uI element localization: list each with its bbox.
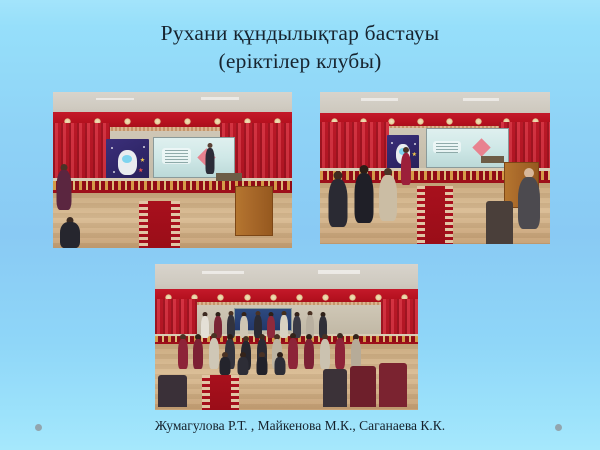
wooden-podium [235, 186, 273, 236]
star-dot [113, 171, 115, 173]
photo-content [155, 264, 418, 410]
carpet-border [202, 375, 210, 410]
group-member-front [255, 352, 268, 375]
title-line-1: Рухани құндылықтар бастауы [0, 20, 600, 48]
photo-content [320, 92, 550, 244]
star-dot [143, 146, 145, 148]
group-member-front [218, 352, 231, 375]
valance-motif [123, 117, 133, 127]
audience-figure [513, 168, 545, 241]
carpet-runner [202, 375, 239, 410]
person-body [56, 170, 71, 210]
person-body [205, 148, 214, 174]
carpet-border [231, 375, 239, 410]
valance-motif [242, 293, 252, 303]
group-member-front [237, 352, 250, 375]
photo-audience-and-presenter [320, 92, 550, 244]
carpet-border [171, 201, 180, 248]
star-icon [140, 157, 145, 162]
audience-figure [325, 171, 353, 238]
audience-figure [53, 164, 75, 223]
valance-motif [295, 293, 305, 303]
carpet-border [139, 201, 148, 248]
authors-caption: Жумагулова Р.Т. , Майкенова М.К., Сагана… [0, 418, 600, 434]
projection-screen [153, 137, 234, 178]
group-member [239, 312, 250, 338]
group-member [192, 334, 205, 372]
group-member [287, 333, 300, 372]
photo-group-photo [155, 264, 418, 410]
audience-figure [375, 168, 400, 235]
valance-motif [153, 117, 163, 127]
star-icon [138, 168, 143, 173]
heart-graphic [473, 138, 491, 156]
star-dot [414, 143, 416, 145]
auditorium-chair [158, 375, 187, 407]
page-title: Рухани құндылықтар бастауы (еріктілер кл… [0, 20, 600, 75]
person-body [379, 175, 397, 221]
av-cart [216, 173, 242, 181]
person-body [320, 339, 330, 369]
person-body [193, 339, 203, 369]
auditorium-chair [379, 363, 408, 407]
person-body [238, 357, 249, 375]
group-member [318, 334, 331, 372]
person-body [274, 357, 285, 375]
av-cart [481, 156, 504, 164]
title-line-2: (еріктілер клубы) [0, 48, 600, 76]
star-dot [111, 147, 113, 149]
astronaut-figure [118, 150, 137, 175]
person-body [219, 357, 230, 375]
person-body [354, 173, 373, 223]
presentation-slide: Рухани құндылықтар бастауы (еріктілер кл… [0, 0, 600, 450]
person-body [60, 222, 80, 248]
person-body [329, 179, 348, 227]
person-body [351, 339, 361, 369]
carpet-runner [139, 201, 180, 248]
auditorium-chair [486, 201, 514, 244]
valance-motif [182, 117, 192, 127]
carpet-border [445, 186, 453, 244]
group-member [334, 333, 347, 372]
group-member [302, 334, 315, 372]
valance-motif [268, 293, 278, 303]
group-member [176, 334, 189, 372]
audience-figure [350, 165, 378, 235]
auditorium-chair [350, 366, 376, 407]
person-body [256, 357, 267, 375]
group-member-front [273, 352, 286, 375]
person-body [335, 338, 345, 369]
presenter-figure [398, 147, 414, 193]
slide-text-block [162, 148, 191, 163]
valance-motif [216, 293, 226, 303]
person-body [518, 177, 540, 229]
person-body [401, 153, 411, 185]
photo-content [53, 92, 292, 248]
photo-stage-presentation-wide [53, 92, 292, 248]
slide-text-block [433, 141, 460, 154]
star-dot [391, 142, 393, 144]
presenter-figure [204, 143, 216, 177]
person-body [178, 339, 188, 369]
valance-motif [321, 293, 331, 303]
audience-figure [55, 217, 84, 248]
auditorium-chair [323, 369, 347, 407]
carpet-runner [417, 186, 454, 244]
person-body [304, 339, 314, 369]
carpet-border [417, 186, 425, 244]
valance-motif [347, 293, 357, 303]
person-body [288, 338, 298, 369]
